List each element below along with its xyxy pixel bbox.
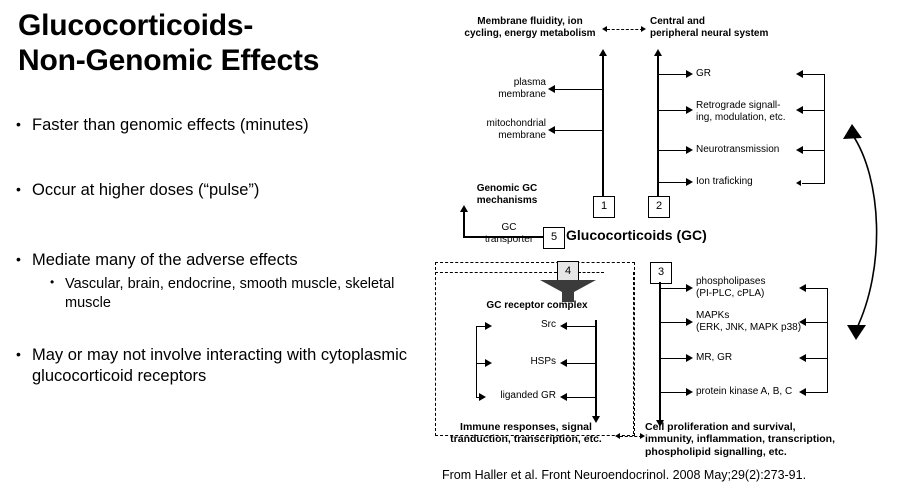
branch-line-mapks — [661, 322, 687, 323]
branch-line-liganded-gr — [566, 397, 596, 398]
page-title-line2: Non-Genomic Effects — [18, 43, 418, 78]
diagram-label-plasma-membrane: plasma membrane — [462, 77, 546, 101]
diagram-number-box-3: 3 — [650, 262, 672, 284]
arrowhead-right-icon — [686, 106, 693, 114]
diagram-label-glucocorticoids: Glucocorticoids (GC) — [566, 227, 707, 244]
feedback-line-phospholipases — [805, 288, 828, 289]
bullet-item-4: May or may not involve interacting with … — [12, 345, 422, 388]
arrowhead-left-icon — [796, 146, 803, 154]
arrowhead-left-icon — [796, 180, 801, 186]
diagram-number-box-2: 2 — [648, 196, 670, 218]
arrowhead-left-icon — [548, 85, 555, 93]
arrowhead-right-icon — [686, 318, 693, 326]
arrowhead-left-icon — [548, 126, 555, 134]
connector-dashed-to-box4 — [435, 272, 557, 273]
diagram-label-immune-responses: Immune responses, signal tranduction, tr… — [438, 421, 614, 446]
branch-line-gr — [659, 74, 687, 75]
diagram-label-gc-receptor-complex: GC receptor complex — [462, 300, 612, 312]
arrowhead-left-icon — [602, 26, 607, 32]
arrowhead-left-icon — [560, 393, 567, 401]
arrowhead-left-icon — [799, 284, 806, 292]
axis-line-1 — [602, 56, 604, 209]
arrowhead-right-icon — [686, 70, 693, 78]
diagram-label-src: Src — [510, 319, 556, 331]
arrowhead-right-icon — [686, 284, 693, 292]
gc-receptor-complex-box — [435, 262, 635, 436]
bullet-item-2: Occur at higher doses (“pulse”) — [12, 180, 422, 201]
diagram-label-cell-proliferation: Cell proliferation and survival, immunit… — [645, 421, 855, 458]
diagram-label-gc-transporter: GC transporter — [478, 222, 540, 246]
diagram-label-membrane-fluidity: Membrane fluidity, ion cycling, energy m… — [440, 16, 620, 40]
diagram-label-ion-traficking: Ion traficking — [696, 176, 822, 188]
receptor-axis-line — [595, 320, 597, 418]
diagram-label-retrograde-signalling: Retrograde signall- ing, modulation, etc… — [696, 100, 822, 124]
branch-line-mitochondrial-membrane — [554, 130, 603, 131]
arrowhead-left-icon — [796, 70, 803, 78]
feedback-line-mr-gr — [805, 358, 828, 359]
branch-line-ion-traficking — [659, 182, 687, 183]
feedback-line-mapks — [805, 322, 828, 323]
slide-text-panel: Glucocorticoids- Non-Genomic Effects Fas… — [0, 0, 432, 496]
curved-double-arrow-icon — [830, 118, 900, 353]
feedback-line-protein-kinase — [805, 392, 828, 393]
arrowhead-right-icon — [641, 26, 646, 32]
branch-line-src — [566, 326, 596, 327]
branch-line-plasma-membrane — [554, 89, 603, 90]
arrowhead-right-icon — [640, 433, 645, 439]
feedback-line-retrograde — [802, 110, 825, 111]
diagram-label-hsps: HSPs — [506, 356, 556, 368]
feedback-line-ion-traficking — [802, 183, 825, 184]
non-genomic-effects-diagram: Membrane fluidity, ion cycling, energy m… — [432, 0, 902, 496]
feedback-bracket-lower — [827, 288, 828, 392]
arrowhead-right-icon — [479, 393, 486, 401]
arrowhead-right-icon — [686, 354, 693, 362]
arrowhead-up-icon — [460, 205, 468, 212]
diagram-number-box-1: 1 — [593, 196, 615, 218]
branch-line-retrograde — [659, 110, 687, 111]
page-title-line1: Glucocorticoids- — [18, 8, 418, 43]
diagram-label-liganded-gr: liganded GR — [484, 390, 556, 402]
arrowhead-left-icon — [560, 359, 567, 367]
feedback-line-neurotransmission — [802, 150, 825, 151]
connector-outcomes-dashed — [620, 436, 642, 437]
arrowhead-right-icon — [686, 388, 693, 396]
citation-text: From Haller et al. Front Neuroendocrinol… — [442, 468, 806, 482]
branch-line-protein-kinase — [661, 392, 687, 393]
transporter-riser-line — [463, 211, 465, 237]
arrowhead-right-icon — [485, 359, 492, 367]
axis-line-2 — [657, 56, 659, 209]
arrowhead-left-icon — [799, 318, 806, 326]
arrowhead-right-icon — [686, 146, 693, 154]
diagram-label-genomic-gc-mechanisms: Genomic GC mechanisms — [452, 183, 562, 207]
branch-line-hsps — [566, 363, 596, 364]
branch-line-mr-gr — [661, 358, 687, 359]
divider-dashed-vertical — [633, 272, 634, 434]
arrowhead-right-icon — [686, 178, 693, 186]
page-title: Glucocorticoids- Non-Genomic Effects — [18, 8, 418, 79]
bullet-item-3: Mediate many of the adverse effects — [12, 250, 422, 271]
connector-dashed-box4-right — [578, 272, 604, 273]
arrowhead-left-icon — [560, 322, 567, 330]
diagram-number-box-5: 5 — [543, 227, 565, 249]
arrowhead-left-icon — [615, 433, 620, 439]
receptor-feedback-bracket — [476, 326, 477, 398]
arrowhead-up-icon — [654, 49, 662, 56]
diagram-label-neural-system: Central and peripheral neural system — [650, 16, 830, 40]
bullet-subitem-1: Vascular, brain, endocrine, smooth muscl… — [48, 275, 408, 312]
arrowhead-left-icon — [799, 354, 806, 362]
feedback-line-gr — [802, 74, 825, 75]
diagram-label-mitochondrial-membrane: mitochondrial membrane — [450, 118, 546, 142]
arrowhead-left-icon — [799, 388, 806, 396]
connector-top-dashed — [607, 29, 643, 30]
arrowhead-left-icon — [796, 106, 803, 114]
axis-line-3 — [659, 282, 661, 422]
arrowhead-right-icon — [485, 322, 492, 330]
branch-line-phospholipases — [661, 288, 687, 289]
bullet-item-1: Faster than genomic effects (minutes) — [12, 115, 422, 136]
arrowhead-up-icon — [599, 49, 607, 56]
feedback-bracket-upper — [824, 74, 825, 184]
branch-line-neurotransmission — [659, 150, 687, 151]
